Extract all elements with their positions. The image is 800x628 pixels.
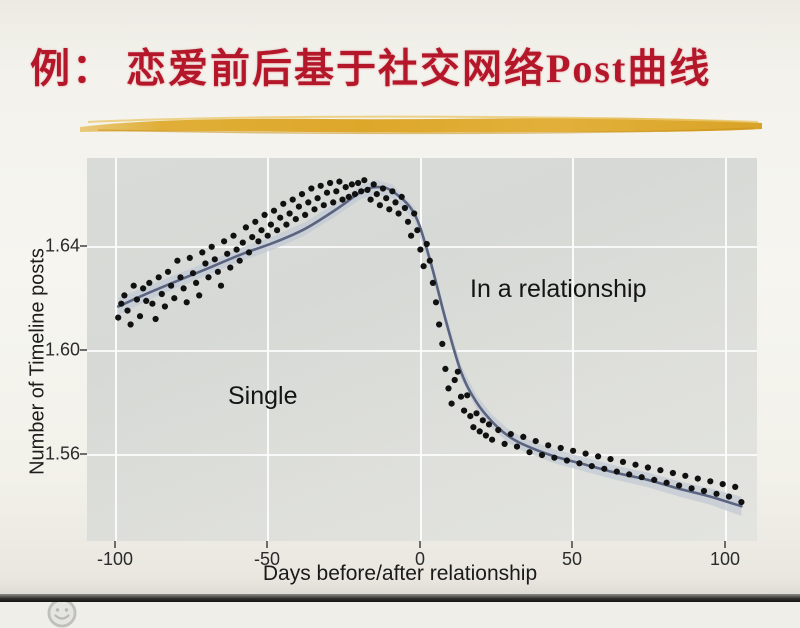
- y-axis-title: Number of Timeline posts: [27, 212, 50, 512]
- plot-svg: [87, 158, 757, 541]
- annotation-in-a-relationship: In a relationship: [470, 275, 647, 304]
- annotation-single: Single: [228, 382, 298, 411]
- plot-panel: Single In a relationship: [87, 158, 757, 541]
- x-tick-mark-0: [419, 541, 421, 548]
- scatter-points: [115, 177, 744, 505]
- x-tick-mark-100: [724, 541, 726, 548]
- y-tick-mark-1.56: [80, 453, 87, 455]
- x-tick-mark--50: [266, 541, 268, 548]
- x-tick-mark-50: [571, 541, 573, 548]
- y-tick-mark-1.64: [80, 245, 87, 247]
- bottom-edge-bar: [0, 594, 800, 602]
- page-title: 例： 恋爱前后基于社交网络Post曲线: [30, 36, 711, 94]
- x-tick-mark--100: [114, 541, 116, 548]
- x-axis-title: Days before/after relationship: [0, 562, 800, 586]
- chart-container: Single In a relationship 1.64 1.60 1.56 …: [0, 150, 800, 590]
- y-tick-mark-1.60: [80, 349, 87, 351]
- loess-line: [118, 187, 741, 506]
- smiley-face-watermark: [47, 598, 77, 628]
